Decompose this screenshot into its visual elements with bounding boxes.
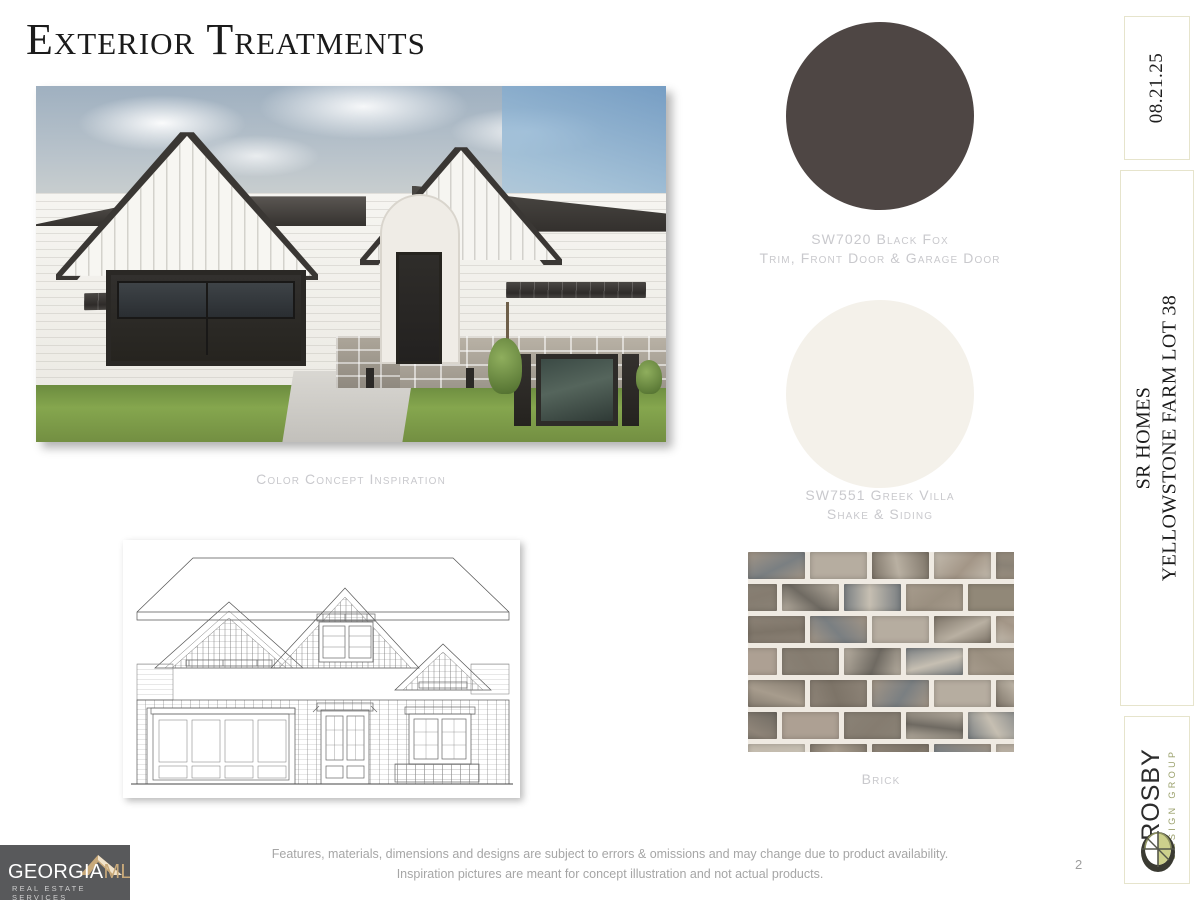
elevation-drawing <box>123 540 520 798</box>
brick-unit <box>934 616 991 643</box>
page-title: Exterior Treatments <box>26 14 426 65</box>
brick-unit <box>996 744 1014 752</box>
brick-unit <box>748 552 805 579</box>
mls-wordmark: GEORGIAMLS <box>8 861 130 884</box>
project-lot: YELLOWSTONE FARM LOT 38 <box>1157 295 1183 581</box>
footer-disclaimer: Features, materials, dimensions and desi… <box>210 845 1010 884</box>
brick-unit <box>782 648 839 675</box>
brick-unit <box>872 552 929 579</box>
brick-unit <box>748 648 777 675</box>
project-title: SR HOMES YELLOWSTONE FARM LOT 38 <box>1131 295 1182 581</box>
brick-unit <box>906 584 963 611</box>
brick-unit <box>996 680 1014 707</box>
brick-unit <box>748 712 777 739</box>
brick-unit <box>844 584 901 611</box>
brick-unit <box>782 584 839 611</box>
date-box: 08.21.25 <box>1124 16 1190 160</box>
brick-unit <box>872 680 929 707</box>
brick-unit <box>996 616 1014 643</box>
front-door <box>396 252 442 364</box>
project-builder: SR HOMES <box>1131 295 1157 581</box>
brick-unit <box>810 552 867 579</box>
brick-unit <box>748 584 777 611</box>
brick-unit <box>872 744 929 752</box>
brick-unit <box>968 712 1015 739</box>
brick-unit <box>748 680 805 707</box>
mls-tagline: REAL ESTATE SERVICES <box>12 884 130 900</box>
inspiration-photo <box>36 86 666 442</box>
swatch-greek-villa-usage: Shake & Siding <box>720 505 1040 524</box>
wall-sconce-right <box>466 368 474 388</box>
garage-door <box>106 270 306 366</box>
brick-unit <box>934 680 991 707</box>
disclaimer-line-1: Features, materials, dimensions and desi… <box>210 845 1010 864</box>
mls-word-georgia: GEORGIA <box>8 861 103 883</box>
swatch-greek-villa-label: SW7551 Greek Villa Shake & Siding <box>720 486 1040 524</box>
crosby-emblem-icon <box>1136 824 1180 876</box>
brick-unit <box>934 744 991 752</box>
shrub-left <box>488 338 522 394</box>
swatch-black-fox-label: SW7020 Black Fox Trim, Front Door & Gara… <box>720 230 1040 268</box>
crosby-logo: CROSBY DESIGN GROUP <box>1124 716 1190 884</box>
brick-sample <box>748 552 1014 752</box>
brick-unit <box>968 648 1015 675</box>
brick-unit <box>906 712 963 739</box>
slide-canvas: Exterior Treatments <box>0 0 1200 900</box>
swatch-greek-villa-name: SW7551 Greek Villa <box>720 486 1040 505</box>
brick-unit <box>844 712 901 739</box>
swatch-greek-villa <box>786 300 974 488</box>
photo-content <box>36 86 666 442</box>
brick-unit <box>810 744 867 752</box>
swatch-black-fox-usage: Trim, Front Door & Garage Door <box>720 249 1040 268</box>
project-box: SR HOMES YELLOWSTONE FARM LOT 38 <box>1120 170 1194 706</box>
georgia-mls-logo: GEORGIAMLS REAL ESTATE SERVICES <box>0 845 130 900</box>
brick-unit <box>810 616 867 643</box>
brick-unit <box>748 744 805 752</box>
disclaimer-line-2: Inspiration pictures are meant for conce… <box>210 865 1010 884</box>
shrub-right <box>636 360 662 394</box>
swatch-black-fox <box>786 22 974 210</box>
shutter-right <box>622 354 639 426</box>
picture-window <box>536 354 618 426</box>
brick-caption: Brick <box>748 770 1014 789</box>
brick-unit <box>934 552 991 579</box>
page-number: 2 <box>1075 857 1082 872</box>
metal-awning-middle <box>506 282 646 298</box>
brick-unit <box>872 616 929 643</box>
brick-unit <box>810 680 867 707</box>
swatch-black-fox-name: SW7020 Black Fox <box>720 230 1040 249</box>
mls-word-mls: MLS <box>103 861 130 883</box>
elevation-svg <box>123 540 520 798</box>
brick-unit <box>906 648 963 675</box>
brick-unit <box>782 712 839 739</box>
brick-unit <box>996 552 1014 579</box>
project-date: 08.21.25 <box>1146 53 1168 124</box>
brick-unit <box>968 584 1015 611</box>
inspiration-caption: Color Concept Inspiration <box>36 470 666 489</box>
wall-sconce-left <box>366 368 374 388</box>
brick-unit <box>844 648 901 675</box>
brick-unit <box>748 616 805 643</box>
